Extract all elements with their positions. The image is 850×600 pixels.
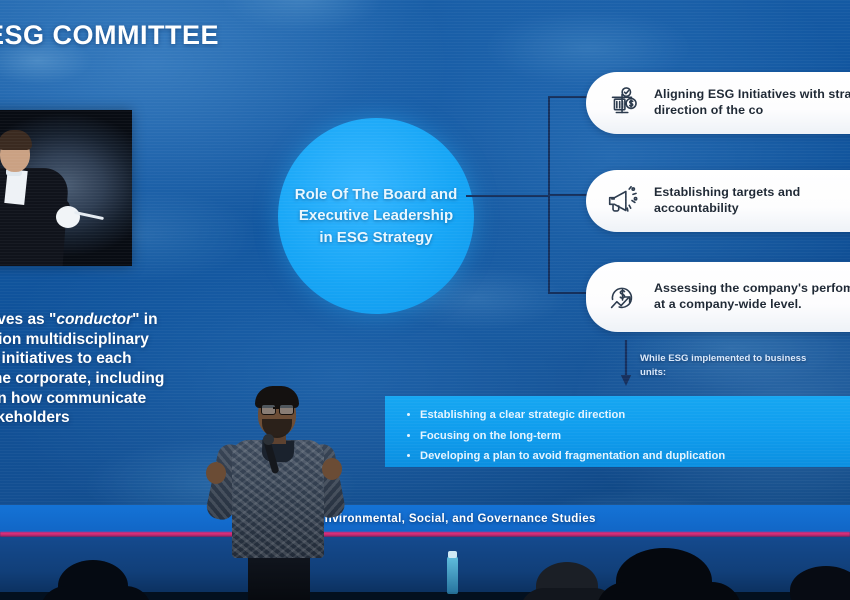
speaker-glasses-right-lens [279, 404, 294, 415]
conductor-hand [56, 206, 80, 228]
left-paragraph-line-4: n the corporate, including [0, 370, 164, 387]
microphone-head [263, 434, 274, 445]
conductor-hair [0, 130, 32, 150]
left-paragraph-line-2: bution multidisciplinary [0, 331, 149, 348]
audience-silhouette [596, 582, 742, 600]
audience-silhouette [40, 586, 152, 600]
projection-screen: ESG COMMITTEE serves as "conductor" in b… [0, 0, 850, 521]
speaker-legs [248, 552, 310, 600]
hub-label: Role Of The Board and Executive Leadersh… [278, 184, 474, 248]
esg-card-3-text: Assessing the company's perfomance at a … [654, 281, 850, 313]
speaker-glasses-bridge [273, 407, 280, 409]
megaphone-icon [604, 182, 642, 220]
bullet-panel: Establishing a clear strategic direction… [385, 396, 850, 467]
water-bottle [447, 556, 458, 594]
note-text: While ESG implemented to business units: [640, 352, 825, 381]
list-item: Focusing on the long-term [407, 426, 850, 447]
left-paragraph-line-6: stakeholders [0, 409, 70, 426]
left-paragraph-line-1-text: serves as "conductor" in [0, 311, 158, 328]
conductor-photo [0, 110, 132, 266]
dollar-growth-arrow-icon [604, 278, 642, 316]
esg-card-2: Establishing targets and accountability [586, 170, 850, 232]
hub-circle: Role Of The Board and Executive Leadersh… [278, 118, 474, 314]
speaker-left-hand [206, 462, 226, 484]
esg-card-1-text: Aligning ESG Initiatives with strategic … [654, 87, 850, 119]
left-paragraph: serves as "conductor" in bution multidis… [0, 310, 224, 428]
left-paragraph-line-1: serves as "conductor" in [0, 311, 158, 328]
list-item: Developing a plan to avoid fragmentation… [407, 446, 850, 467]
connector-line-main [466, 195, 550, 197]
event-banner: Center for Environmental, Social, and Go… [0, 505, 850, 532]
scale-balance-dollar-check-icon [604, 84, 642, 122]
bullet-list: Establishing a clear strategic direction… [407, 405, 850, 467]
left-paragraph-line-5: h on how communicate [0, 390, 146, 407]
esg-card-2-text: Establishing targets and accountability [654, 185, 850, 217]
esg-card-3: Assessing the company's perfomance at a … [586, 262, 850, 332]
down-arrow-icon [619, 340, 633, 388]
speaker-glasses-left-lens [261, 404, 276, 415]
water-bottle-cap [448, 551, 457, 558]
left-paragraph-line-3: ted initiatives to each [0, 350, 132, 367]
conference-photo-scene: ESG COMMITTEE serves as "conductor" in b… [0, 0, 850, 600]
speaker-right-hand [322, 458, 342, 480]
list-item: Establishing a clear strategic direction [407, 405, 850, 426]
page-title: ESG COMMITTEE [0, 20, 219, 51]
esg-card-1: Aligning ESG Initiatives with strategic … [586, 72, 850, 134]
